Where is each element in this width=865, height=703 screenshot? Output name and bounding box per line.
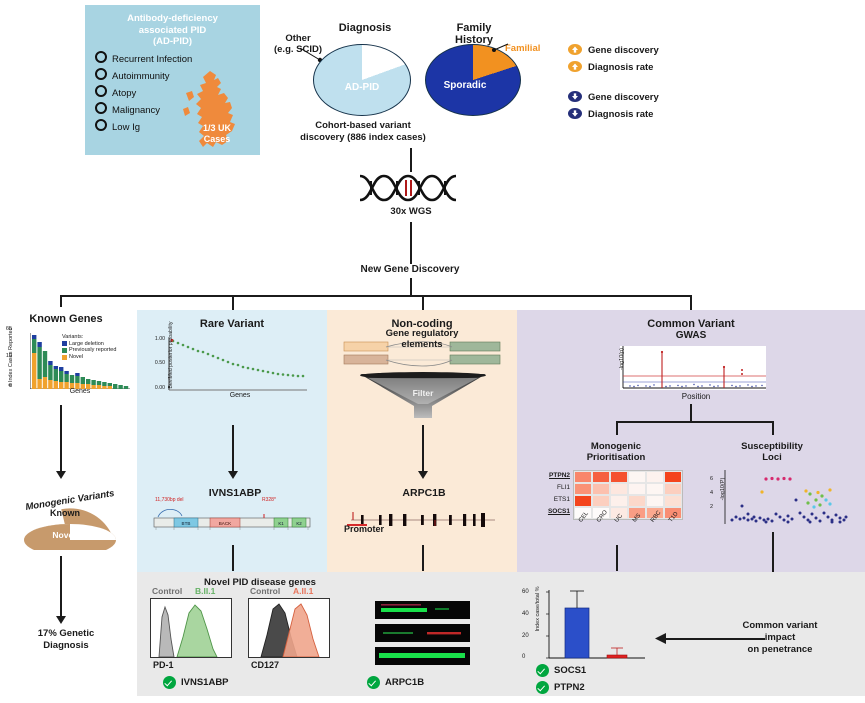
facs-plot-cd127: Control A.II.1 CD127 <box>248 598 330 658</box>
legend-large-deletion: Large deletion <box>62 341 116 348</box>
heatmap-cell <box>664 471 682 483</box>
susceptibility-ylabel: -log10(P) <box>720 462 726 516</box>
facs-plot-pd1: Control B.II.1 PD-1 <box>150 598 232 658</box>
heatmap-cell <box>592 483 610 495</box>
heatmap-cell <box>574 483 592 495</box>
pen-ytick-20: 20 <box>522 633 529 639</box>
branch-common-variant <box>690 295 692 311</box>
monogenic-heatmap <box>573 470 683 520</box>
adpid-bullet-4: Low Ig <box>95 119 140 133</box>
ytick-10: 10 <box>6 353 12 359</box>
cohort-caption: Cohort-based variant discovery (886 inde… <box>278 120 448 143</box>
rare-variant-title: Rare Variant <box>137 318 327 330</box>
western-blot-row-1 <box>375 624 470 642</box>
rv-ytick-0: 0.00 <box>143 385 165 391</box>
facs-histogram-1 <box>249 599 329 657</box>
known-genes-title: Known Genes <box>7 313 125 325</box>
bullet-ring-icon <box>95 102 107 114</box>
gwas-title: GWAS <box>633 330 749 341</box>
connector-gwas-split <box>690 404 692 422</box>
susc-ytick-4: 4 <box>710 490 713 496</box>
swatch-icon <box>62 348 67 353</box>
check-circle-icon <box>163 676 176 689</box>
connector-known-to-monogenic <box>60 405 62 473</box>
svg-text:K1: K1 <box>278 521 284 526</box>
legend-title: Variants: <box>62 334 116 341</box>
connector-pies-to-dna <box>410 148 412 172</box>
connector-monogenic-to-diagnosis <box>60 556 62 618</box>
adpid-bullet-3: Malignancy <box>95 102 160 116</box>
bullet-ring-icon <box>95 119 107 131</box>
rare-variant-scatter <box>167 338 307 392</box>
branch-susceptibility <box>772 421 774 435</box>
western-blot-row-2 <box>375 647 470 665</box>
familial-leader-line <box>492 42 512 52</box>
adpid-title: Antibody-deficiency associated PID (AD-P… <box>85 13 260 48</box>
uk-cases-caption: 1/3 UK Cases <box>184 123 250 145</box>
bullet-ring-icon <box>95 51 107 63</box>
genetic-diagnosis-label: 17% Genetic Diagnosis <box>8 628 124 652</box>
legend-item-3: Diagnosis rate <box>568 108 653 120</box>
heatmap-row-fli1: FLI1 <box>557 484 570 491</box>
gwas-manhattan-plot <box>620 346 766 390</box>
common-variant-impact-label: Common variant impact on penetrance <box>700 620 860 656</box>
arrow-up-icon <box>568 44 582 55</box>
rare-variant-xlabel: Genes <box>210 392 270 399</box>
arrow-left-icon <box>655 632 669 645</box>
adpid-bullet-2: Atopy <box>95 85 136 99</box>
facs-marker-cd127: CD127 <box>251 660 279 670</box>
heatmap-row-socs1: SOCS1 <box>548 508 570 515</box>
branch-known-genes <box>60 295 62 307</box>
penetrance-ylabel: Index case/total % <box>535 576 541 642</box>
swatch-icon <box>62 341 67 346</box>
gwas-ylabel: -log10(p) <box>619 333 625 385</box>
western-blot-bands-1 <box>375 624 470 642</box>
arrow-monogenic-to-diagnosis <box>56 616 66 624</box>
legend-item-0: Gene discovery <box>568 44 659 56</box>
branch-non-coding <box>422 295 424 311</box>
facs-sample-label-1: A.II.1 <box>293 586 313 596</box>
pen-ytick-0: 0 <box>522 654 525 660</box>
heatmap-cell <box>646 495 664 507</box>
connector-heatmap-to-bottom <box>616 545 618 571</box>
gene-regulatory-elements-label: Gene regulatory elements <box>352 328 492 350</box>
heatmap-row-ptpn2: PTPN2 <box>549 472 570 479</box>
heatmap-row-ets1: ETS1 <box>554 496 570 503</box>
penetrance-bar-chart <box>535 588 653 668</box>
branch-monogenic <box>616 421 618 435</box>
heatmap-cell <box>646 483 664 495</box>
facs-sample-label-0: B.II.1 <box>195 586 215 596</box>
ytick-0: 0 <box>9 383 12 389</box>
heatmap-cell <box>628 495 646 507</box>
svg-text:BACK: BACK <box>219 521 232 526</box>
known-genes-y-axis: # Index Cases Reported 65 10 0 <box>0 326 14 398</box>
swatch-icon <box>62 355 67 360</box>
western-blot-bands-0 <box>375 601 470 619</box>
heatmap-cell <box>610 483 628 495</box>
rv-ytick-1: 1.00 <box>143 336 165 342</box>
arrow-down-icon <box>568 108 582 119</box>
heatmap-cell <box>628 483 646 495</box>
svg-text:K2: K2 <box>296 521 302 526</box>
susc-ytick-2: 2 <box>710 504 713 510</box>
check-arpc1b: ARPC1B <box>367 676 424 689</box>
rv-ytick-050: 0.50 <box>143 360 165 366</box>
heatmap-cell <box>592 495 610 507</box>
dna-helix-icon <box>358 172 464 204</box>
sporadic-slice-label: Sporadic <box>432 80 498 91</box>
diagnosis-pie-chart <box>313 44 411 116</box>
legend-item-2: Gene discovery <box>568 91 659 103</box>
susceptibility-loci-title: Susceptibility Loci <box>707 441 837 463</box>
connector-rare-to-gene <box>232 425 234 473</box>
western-blot-row-0 <box>375 601 470 619</box>
known-genes-xlabel: Genes <box>38 388 122 395</box>
common-variant-title: Common Variant <box>517 318 865 330</box>
heatmap-row-labels: PTPN2 FLI1 ETS1 SOCS1 <box>520 470 570 518</box>
arrow-known-to-monogenic <box>56 471 66 479</box>
rare-variant-ylabel: BeviMed posterior probability <box>168 307 174 403</box>
heatmap-column-labels: CEL CRO UC MS RBC T1D <box>573 520 693 548</box>
legend-previously-reported: Previously reported <box>62 347 116 354</box>
known-genes-legend: Variants: Large deletion Previously repo… <box>62 334 116 360</box>
pen-ytick-60: 60 <box>522 589 529 595</box>
check-circle-icon <box>536 664 549 677</box>
ivns1abp-deletion-annotation: 11,730bp del <box>155 497 225 503</box>
arrow-rare-to-gene <box>228 471 238 479</box>
ivns1abp-gene-model: BTB BACK K1 K2 <box>152 505 312 539</box>
new-gene-discovery-label: New Gene Discovery <box>345 264 475 275</box>
facs-histogram-0 <box>151 599 231 657</box>
arrow-down-icon <box>568 91 582 102</box>
wgs-label: 30x WGS <box>368 206 454 217</box>
ivns1abp-variant-annotation: R328* <box>262 497 312 503</box>
promoter-label: Promoter <box>344 524 404 534</box>
heatmap-cell <box>628 471 646 483</box>
heatmap-cell <box>664 495 682 507</box>
branch-rare-variant <box>232 295 234 311</box>
facs-marker-pd1: PD-1 <box>153 660 174 670</box>
familial-slice-label: Familial <box>505 43 565 54</box>
adpid-summary-box: Antibody-deficiency associated PID (AD-P… <box>85 5 260 155</box>
bullet-ring-icon <box>95 85 107 97</box>
heatmap-cell <box>574 495 592 507</box>
monogenic-novel-label: Novel <box>34 530 94 540</box>
monogenic-known-label: Known <box>30 508 100 518</box>
bullet-ring-icon <box>95 68 107 80</box>
western-blot-bands-2 <box>375 647 470 665</box>
arrow-filter-to-gene <box>418 471 428 479</box>
check-circle-icon <box>536 681 549 694</box>
arpc1b-label: ARPC1B <box>384 487 464 499</box>
check-ptpn2: PTPN2 <box>536 681 585 694</box>
connector-gene-to-bottom <box>232 545 234 571</box>
susceptibility-scatter-plot <box>722 470 850 526</box>
check-socs1: SOCS1 <box>536 664 586 677</box>
ytick-65: 65 <box>6 326 12 332</box>
adpid-bullet-0: Recurrent Infection <box>95 51 192 65</box>
heatmap-cell <box>610 495 628 507</box>
facs-control-label-1: Control <box>250 586 280 596</box>
facs-control-label-0: Control <box>152 586 182 596</box>
heatmap-cell <box>610 471 628 483</box>
pen-ytick-40: 40 <box>522 611 529 617</box>
check-ivns1abp: IVNS1ABP <box>163 676 229 689</box>
filter-label: Filter <box>393 388 453 398</box>
adpid-slice-label: AD-PID <box>330 82 394 93</box>
connector-filter-to-gene <box>422 425 424 473</box>
susc-ytick-6: 6 <box>710 476 713 482</box>
heatmap-cell <box>574 471 592 483</box>
gwas-xlabel: Position <box>650 392 742 401</box>
connector-arpc-to-bottom <box>422 545 424 571</box>
svg-text:BTB: BTB <box>182 521 191 526</box>
legend-novel: Novel <box>62 354 116 361</box>
connector-gwas-branch-bar <box>616 421 772 423</box>
heatmap-cell <box>664 483 682 495</box>
adpid-bullet-1: Autoimmunity <box>95 68 170 82</box>
connector-ngd-down <box>410 278 412 296</box>
heatmap-cell <box>592 471 610 483</box>
check-circle-icon <box>367 676 380 689</box>
arrow-up-icon <box>568 61 582 72</box>
connector-dna-to-ngd <box>410 222 412 264</box>
connector-branch-bar <box>60 295 690 297</box>
heatmap-cell <box>646 471 664 483</box>
legend-item-1: Diagnosis rate <box>568 61 653 73</box>
monogenic-prioritisation-title: Monogenic Prioritisation <box>551 441 681 463</box>
